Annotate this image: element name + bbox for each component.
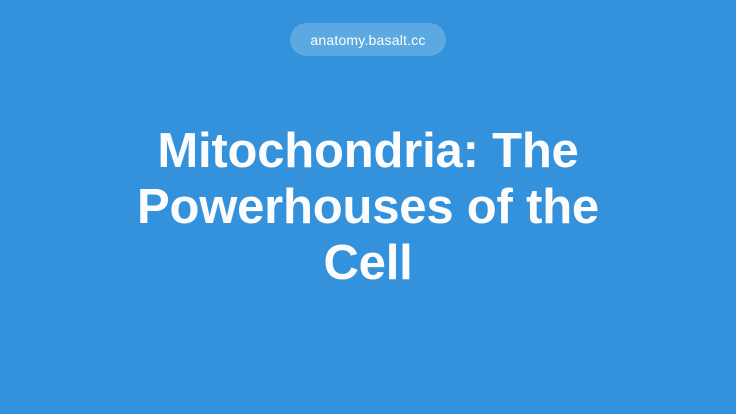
badge-row: anatomy.basalt.cc	[0, 23, 736, 56]
slide-canvas: anatomy.basalt.cc Mitochondria: The Powe…	[0, 0, 736, 414]
hero-title-block: Mitochondria: The Powerhouses of the Cel…	[118, 123, 618, 291]
page-title: Mitochondria: The Powerhouses of the Cel…	[118, 123, 618, 291]
site-domain-badge[interactable]: anatomy.basalt.cc	[290, 23, 445, 56]
